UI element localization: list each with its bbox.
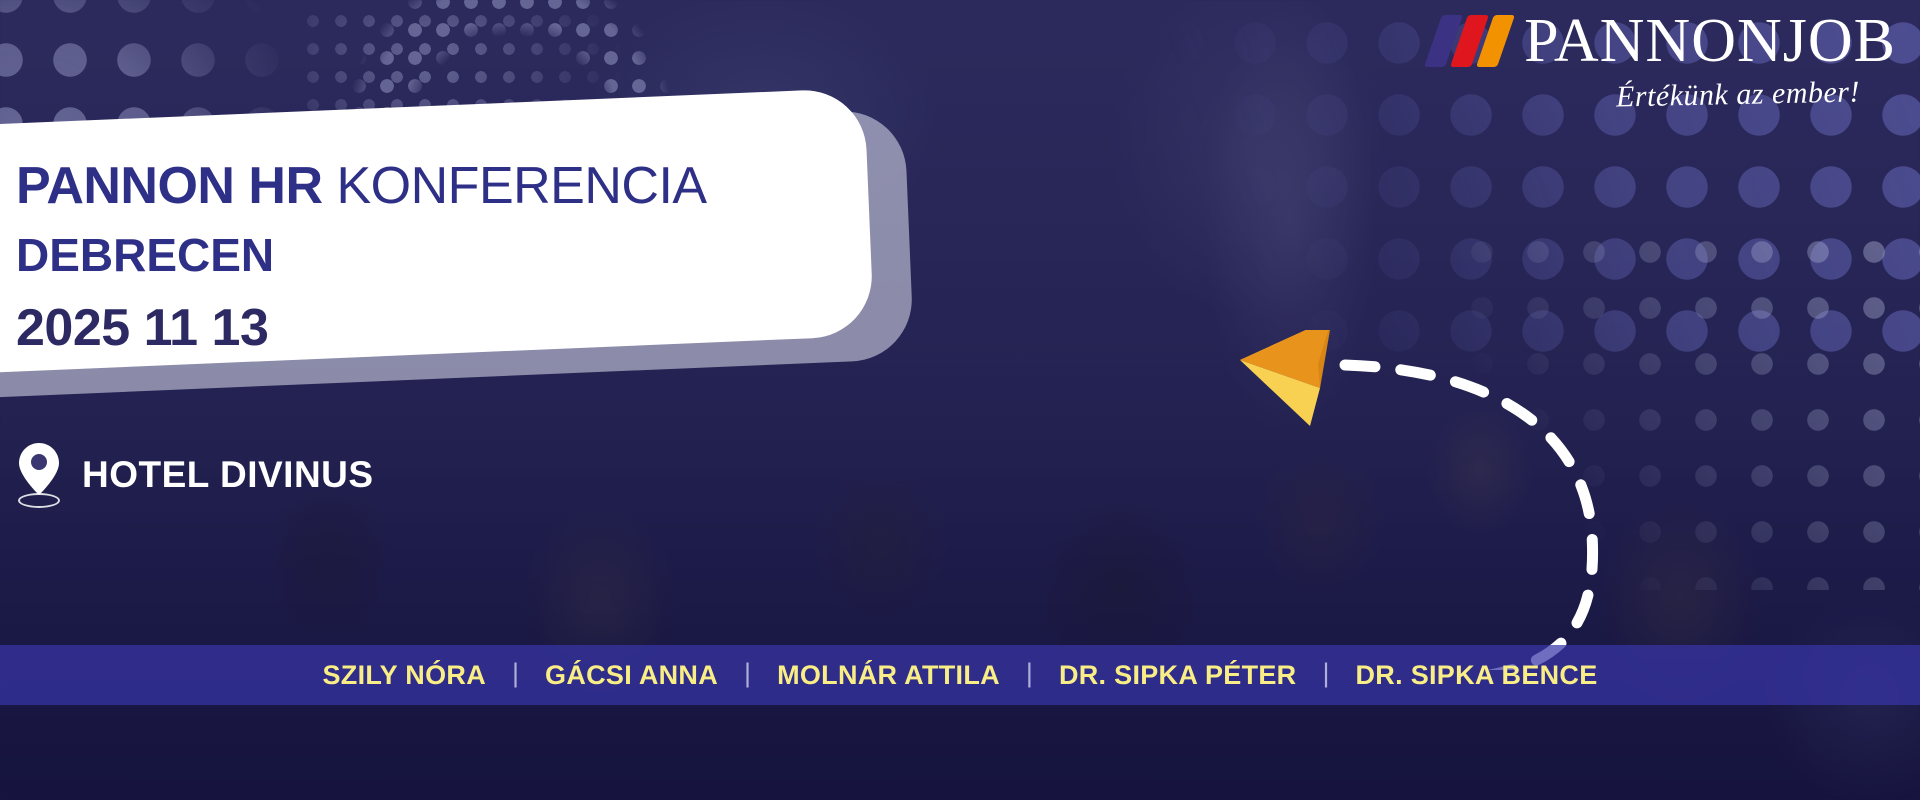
conference-banner: PANNON HR KONFERENCIA DEBRECEN 2025 11 1…: [0, 0, 1920, 800]
pin-base-ellipse-icon: [18, 493, 60, 508]
speaker-name: GÁCSI ANNA: [519, 660, 744, 691]
speakers-bar: SZILY NÓRA|GÁCSI ANNA|MOLNÁR ATTILA|DR. …: [0, 645, 1920, 705]
speaker-separator: |: [1026, 660, 1033, 690]
speaker-separator: |: [1322, 660, 1329, 690]
speaker-separator: |: [744, 660, 751, 690]
event-city: DEBRECEN: [16, 232, 876, 278]
speaker-name: MOLNÁR ATTILA: [751, 660, 1026, 691]
event-headline-block: PANNON HR KONFERENCIA DEBRECEN 2025 11 1…: [16, 160, 876, 354]
speaker-name: SZILY NÓRA: [296, 660, 512, 691]
venue-block: HOTEL DIVINUS: [16, 442, 374, 508]
logo-wordmark: PANNONJOB: [1524, 10, 1896, 72]
speaker-name: DR. SIPKA PÉTER: [1033, 660, 1323, 691]
paper-plane-icon: [1240, 330, 1332, 426]
speaker-separator: |: [512, 660, 519, 690]
event-title-light: KONFERENCIA: [337, 157, 707, 215]
pannonjob-logo[interactable]: PANNONJOB Értékünk az ember!: [1433, 10, 1896, 112]
logo-slashes-icon: [1433, 13, 1506, 69]
dashed-trail-icon: [1345, 365, 1593, 670]
location-pin-icon: [16, 442, 62, 508]
speaker-name: DR. SIPKA BENCE: [1330, 660, 1624, 691]
logo-tagline: Értékünk az ember!: [1616, 75, 1861, 114]
venue-name: HOTEL DIVINUS: [82, 454, 374, 496]
logo-main-row: PANNONJOB: [1433, 10, 1896, 72]
event-title-bold: PANNON HR: [16, 157, 323, 215]
paper-plane-decoration: [1240, 330, 1920, 670]
event-title: PANNON HR KONFERENCIA: [16, 160, 876, 212]
event-date: 2025 11 13: [16, 302, 876, 354]
